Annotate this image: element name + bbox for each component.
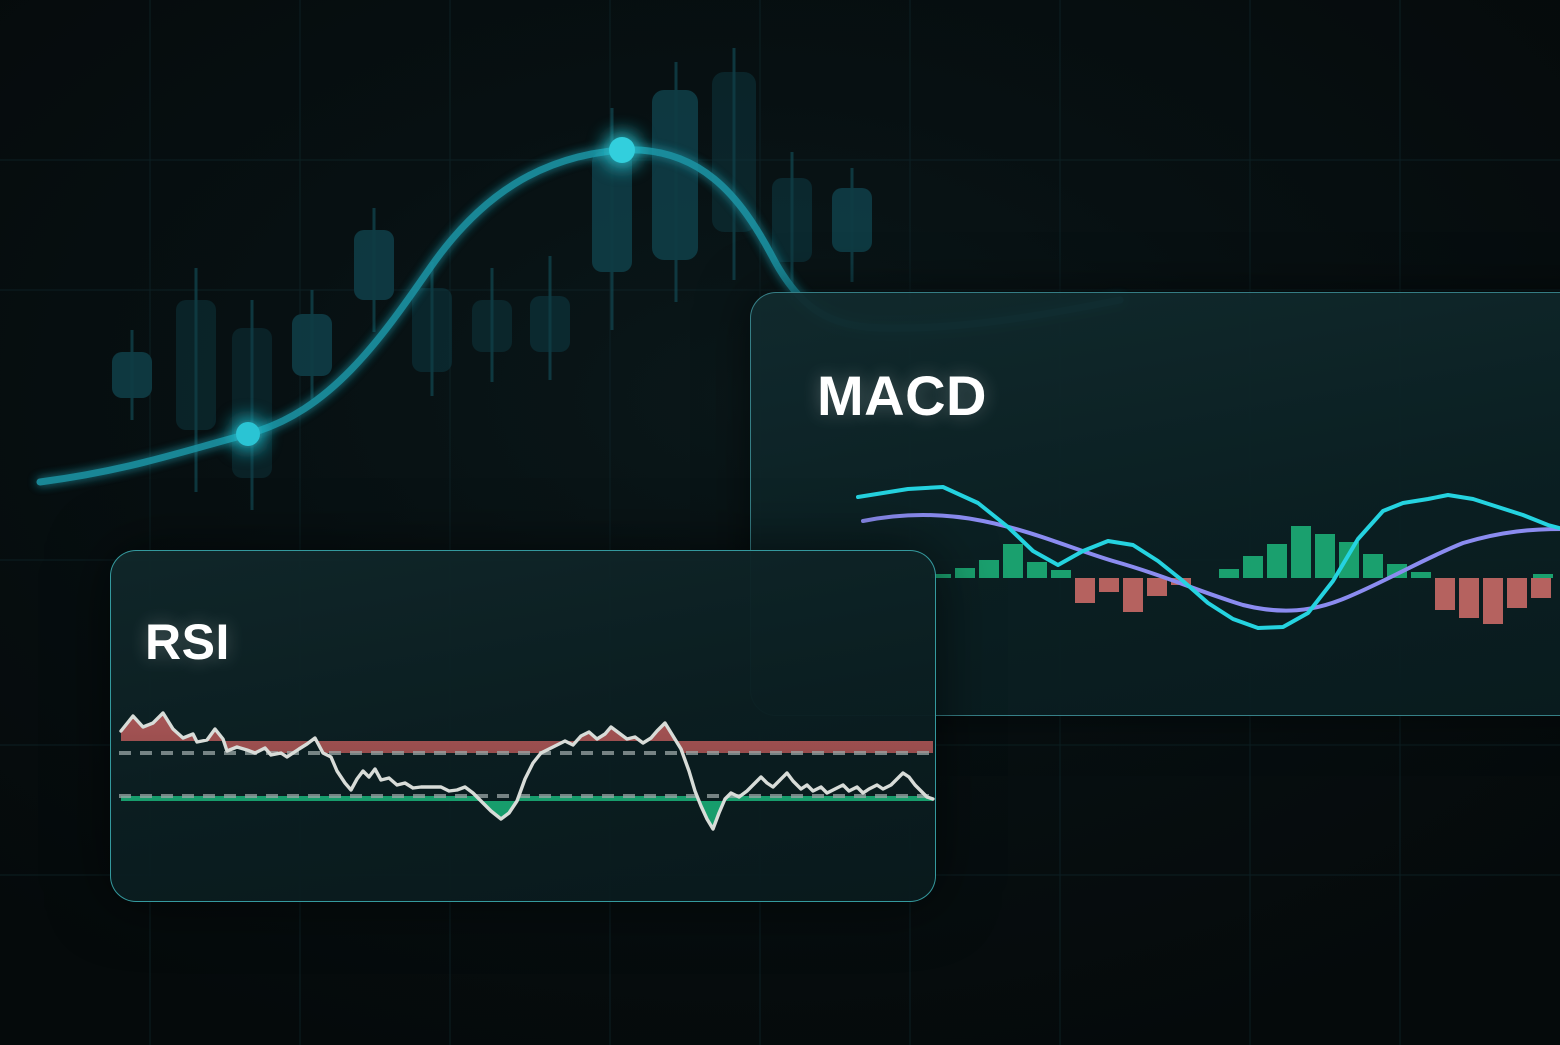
trend-marker-high (609, 137, 635, 163)
macd-line (858, 487, 1560, 628)
macd-histogram-positive (931, 526, 1553, 578)
macd-histogram-negative (1075, 578, 1551, 624)
rsi-panel[interactable]: RSI (110, 550, 936, 902)
rsi-chart (113, 553, 935, 901)
trend-marker-low (236, 422, 260, 446)
rsi-line (121, 713, 933, 829)
macd-signal-line (863, 515, 1560, 611)
macd-title: MACD (817, 363, 987, 428)
rsi-title: RSI (145, 613, 230, 671)
rsi-overbought-area (121, 713, 933, 829)
rsi-plot-area (113, 553, 935, 901)
rsi-oversold-area (121, 713, 933, 829)
trading-dashboard: MACD (0, 0, 1560, 1045)
